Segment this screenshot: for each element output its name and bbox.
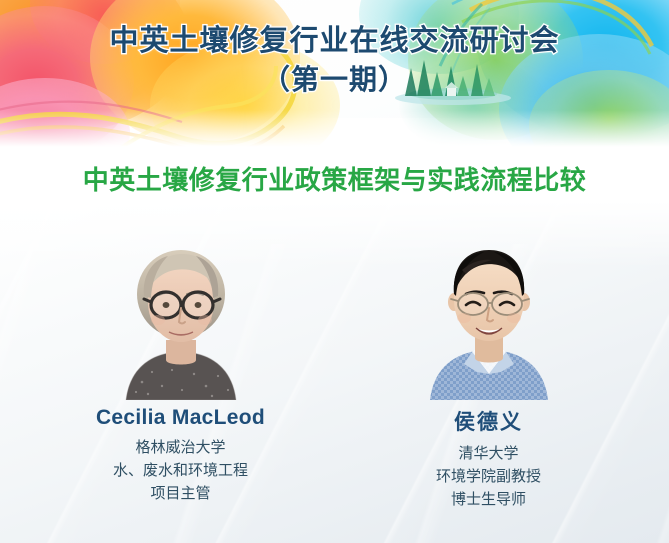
- speaker-credential-line: 博士生导师: [364, 489, 614, 512]
- poster-title-line-2: （第一期）: [0, 61, 669, 99]
- speaker-credentials: 清华大学 环境学院副教授 博士生导师: [364, 443, 614, 511]
- speaker-credential-line: 水、废水和环境工程: [56, 460, 306, 483]
- speaker-name: Cecilia MacLeod: [56, 406, 306, 430]
- speaker-credential-line: 格林威治大学: [56, 437, 306, 460]
- webinar-poster: 中英土壤修复行业在线交流研讨会 （第一期） 中英土壤修复行业政策框架与实践流程比…: [0, 0, 669, 543]
- speaker-photo-hou-deyi: [414, 240, 564, 400]
- speaker-photo-cecilia-macleod: [106, 240, 256, 400]
- speakers-row: Cecilia MacLeod 格林威治大学 水、废水和环境工程 项目主管: [0, 240, 669, 511]
- speaker-card-hou-deyi: 侯德义 清华大学 环境学院副教授 博士生导师: [364, 240, 614, 511]
- speaker-credentials: 格林威治大学 水、废水和环境工程 项目主管: [56, 437, 306, 505]
- portrait-illustration-male: [414, 240, 564, 400]
- speaker-credential-line: 环境学院副教授: [364, 466, 614, 489]
- speaker-card-cecilia-macleod: Cecilia MacLeod 格林威治大学 水、废水和环境工程 项目主管: [56, 240, 306, 505]
- speaker-credential-line: 清华大学: [364, 443, 614, 466]
- poster-subtitle: 中英土壤修复行业政策框架与实践流程比较: [0, 160, 669, 197]
- speaker-credential-line: 项目主管: [56, 483, 306, 506]
- portrait-illustration-female: [106, 240, 256, 400]
- speaker-name: 侯德义: [364, 406, 614, 436]
- poster-title-block: 中英土壤修复行业在线交流研讨会 （第一期）: [0, 22, 669, 99]
- poster-title-line-1: 中英土壤修复行业在线交流研讨会: [0, 22, 669, 61]
